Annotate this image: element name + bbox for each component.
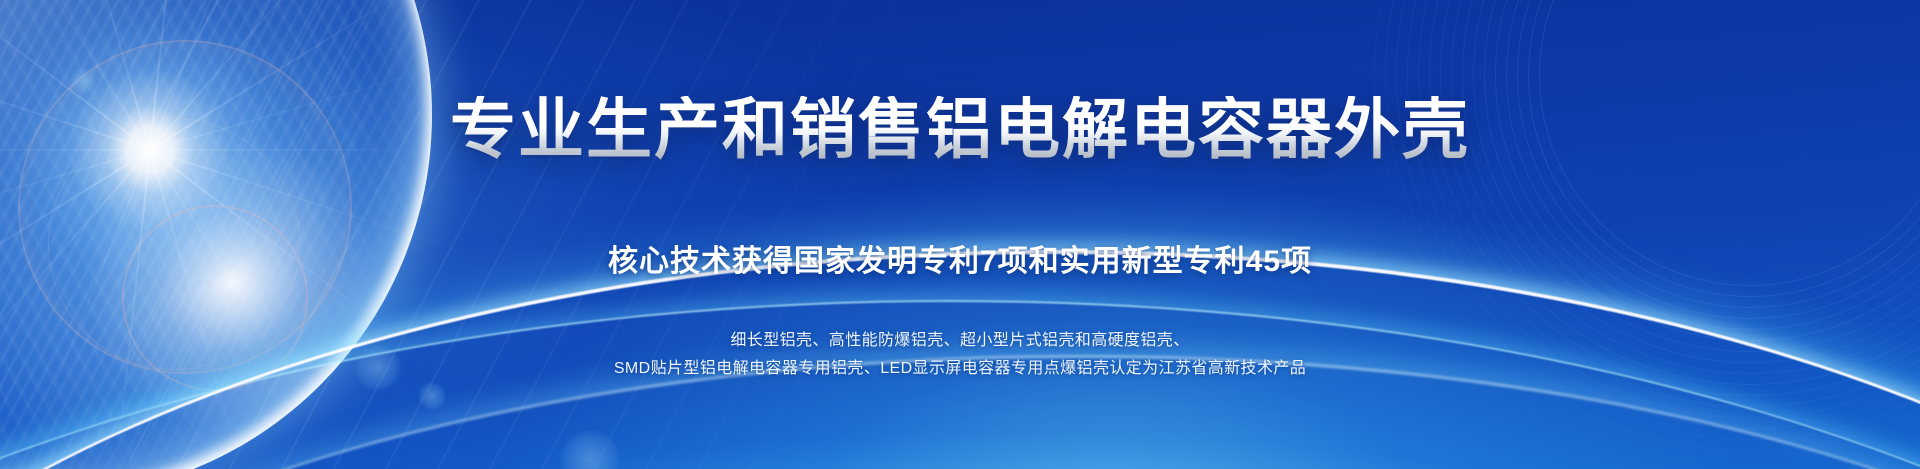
banner-content: 专业生产和销售铝电解电容器外壳 核心技术获得国家发明专利7项和实用新型专利45项… xyxy=(0,0,1920,469)
description-line-1: 细长型铝壳、高性能防爆铝壳、超小型片式铝壳和高硬度铝壳、 xyxy=(614,327,1306,355)
banner-description: 细长型铝壳、高性能防爆铝壳、超小型片式铝壳和高硬度铝壳、 SMD贴片型铝电解电容… xyxy=(614,327,1306,383)
page-title: 专业生产和销售铝电解电容器外壳 xyxy=(450,96,1470,162)
promo-banner: 专业生产和销售铝电解电容器外壳 核心技术获得国家发明专利7项和实用新型专利45项… xyxy=(0,0,1920,469)
description-line-2: SMD贴片型铝电解电容器专用铝壳、LED显示屏电容器专用点爆铝壳认定为江苏省高新… xyxy=(614,355,1306,383)
banner-subtitle: 核心技术获得国家发明专利7项和实用新型专利45项 xyxy=(608,236,1312,280)
